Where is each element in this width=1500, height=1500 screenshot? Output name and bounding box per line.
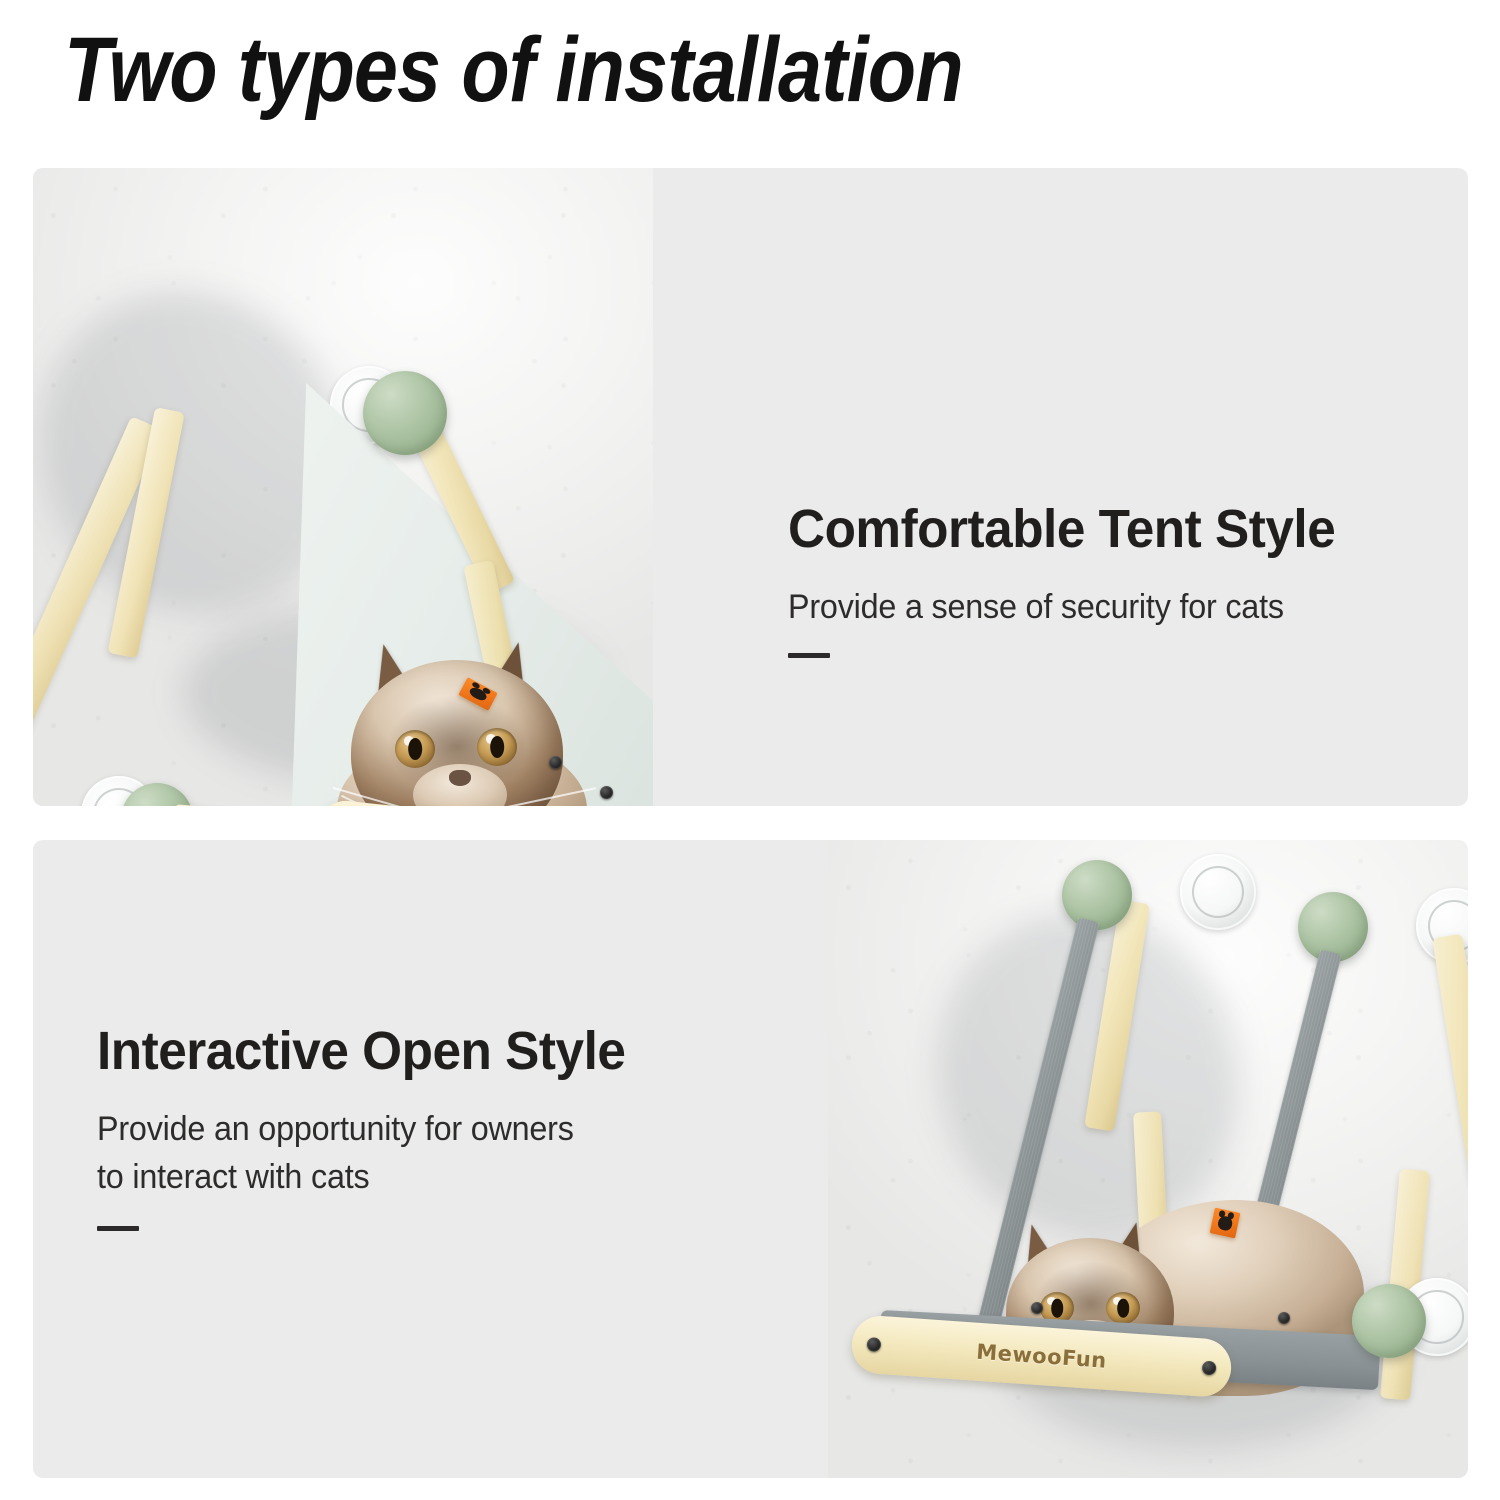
feature-panel-tent: MewooFun Comfortable Tent Style Provide …	[33, 168, 1468, 806]
screw-cap	[1031, 1302, 1043, 1314]
brand-tag-orange	[1210, 1208, 1241, 1239]
cat-eye-left	[395, 730, 435, 768]
product-photo-tent-style: MewooFun	[33, 168, 653, 806]
knob-cap-lower-right	[1352, 1284, 1426, 1358]
cat-eye-right	[477, 728, 517, 766]
screw-cap	[1278, 1312, 1290, 1324]
product-tent-style: MewooFun	[33, 168, 653, 806]
infographic-canvas: Two types of installation	[0, 0, 1500, 1500]
paw-logo-icon	[468, 685, 488, 702]
eye-glint	[486, 734, 496, 744]
brand-label: MewooFun	[851, 1331, 1232, 1381]
feature-title: Interactive Open Style	[97, 1022, 724, 1081]
wood-arm-right-upper	[1432, 934, 1468, 1186]
feature-panel-open: Interactive Open Style Provide an opport…	[33, 840, 1468, 1478]
feature-text-open: Interactive Open Style Provide an opport…	[97, 1022, 757, 1231]
accent-rule	[97, 1226, 139, 1231]
knob-side-face	[1292, 896, 1313, 958]
knob-cap-top-left	[1062, 860, 1132, 930]
feature-subtitle: Provide a sense of security for cats	[788, 585, 1444, 630]
feature-text-tent: Comfortable Tent Style Provide a sense o…	[788, 500, 1468, 658]
eye-glint	[404, 736, 414, 746]
cat-in-hammock	[988, 1192, 1368, 1442]
cat-eye-right	[1106, 1292, 1140, 1324]
product-open-style: MewooFun	[828, 840, 1468, 1478]
paw-logo-icon	[1217, 1215, 1233, 1231]
eye-glint	[1113, 1297, 1122, 1305]
suction-cup-top-left	[1180, 854, 1256, 930]
cat-in-tent	[333, 638, 623, 806]
product-photo-open-style: MewooFun	[828, 840, 1468, 1478]
knob-cap-top	[363, 371, 447, 455]
cat-nose	[449, 770, 471, 786]
page-title: Two types of installation	[64, 22, 963, 119]
feature-subtitle-line1: Provide an opportunity for owners	[97, 1107, 724, 1152]
feature-title: Comfortable Tent Style	[788, 500, 1444, 559]
screw-cap	[549, 756, 562, 769]
screw-cap	[600, 786, 613, 799]
feature-subtitle-line2: to interact with cats	[97, 1155, 724, 1200]
eye-glint	[1047, 1297, 1056, 1305]
accent-rule	[788, 653, 830, 658]
